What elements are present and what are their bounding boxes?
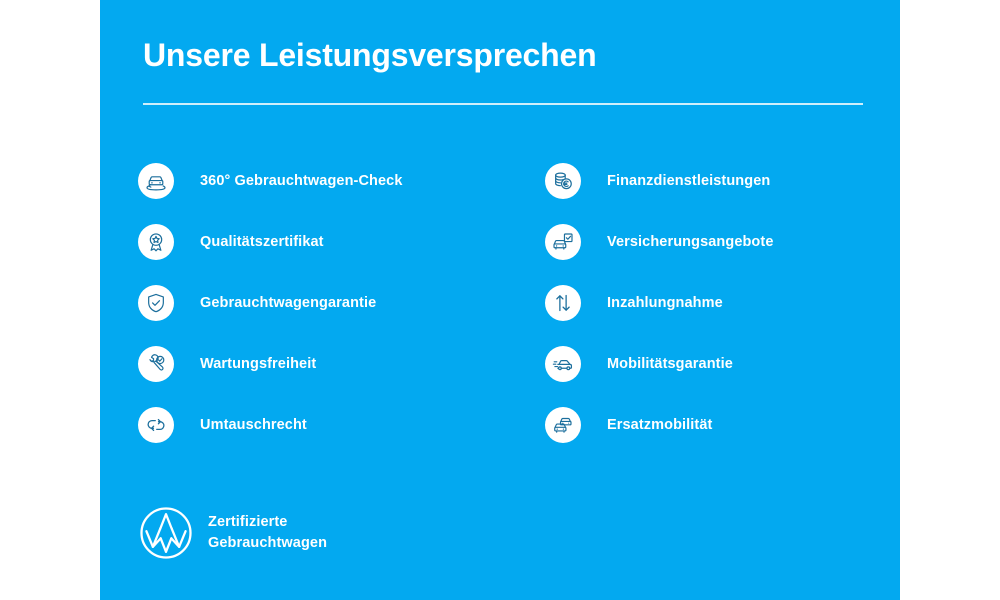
list-item-label: Mobilitätsgarantie <box>607 356 733 372</box>
list-item[interactable]: Ersatzmobilität <box>545 394 945 455</box>
list-item[interactable]: Gebrauchtwagengarantie <box>138 272 538 333</box>
coins-euro-icon <box>545 163 581 199</box>
list-item[interactable]: Finanzdienstleistungen <box>545 150 945 211</box>
footer-line-2: Gebrauchtwagen <box>208 533 327 554</box>
list-item[interactable]: Umtauschrecht <box>138 394 538 455</box>
list-item-label: Versicherungsangebote <box>607 234 774 250</box>
car-motion-icon <box>545 346 581 382</box>
footer-line-1: Zertifizierte <box>208 512 327 533</box>
promises-panel: Unsere Leistungsversprechen <box>100 0 900 600</box>
wrench-check-icon <box>138 346 174 382</box>
list-item[interactable]: Wartungsfreiheit <box>138 333 538 394</box>
shield-check-icon <box>138 285 174 321</box>
list-item[interactable]: Versicherungsangebote <box>545 211 945 272</box>
award-rosette-icon <box>138 224 174 260</box>
list-item-label: Wartungsfreiheit <box>200 356 316 372</box>
screenshot-canvas: Unsere Leistungsversprechen <box>0 0 1000 600</box>
promises-right-column: Finanzdienstleistungen <box>545 150 945 455</box>
list-item[interactable]: Mobilitätsgarantie <box>545 333 945 394</box>
title-divider <box>143 103 863 105</box>
exchange-arrows-icon <box>138 407 174 443</box>
footer-branding: Zertifizierte Gebrauchtwagen <box>138 505 327 561</box>
list-item-label: Finanzdienstleistungen <box>607 173 770 189</box>
list-item-label: Umtauschrecht <box>200 417 307 433</box>
two-cars-icon <box>545 407 581 443</box>
car-document-check-icon <box>545 224 581 260</box>
list-item-label: 360° Gebrauchtwagen-Check <box>200 173 403 189</box>
list-item[interactable]: 360° Gebrauchtwagen-Check <box>138 150 538 211</box>
footer-text: Zertifizierte Gebrauchtwagen <box>208 512 327 553</box>
list-item[interactable]: Inzahlungnahme <box>545 272 945 333</box>
arrows-up-down-icon <box>545 285 581 321</box>
list-item-label: Ersatzmobilität <box>607 417 712 433</box>
page-title: Unsere Leistungsversprechen <box>143 37 596 74</box>
promises-left-column: 360° Gebrauchtwagen-Check Qualitätszerti… <box>138 150 538 455</box>
list-item-label: Inzahlungnahme <box>607 295 723 311</box>
car-360-check-icon <box>138 163 174 199</box>
list-item-label: Gebrauchtwagengarantie <box>200 295 376 311</box>
list-item[interactable]: Qualitätszertifikat <box>138 211 538 272</box>
list-item-label: Qualitätszertifikat <box>200 234 324 250</box>
volkswagen-logo <box>138 505 194 561</box>
